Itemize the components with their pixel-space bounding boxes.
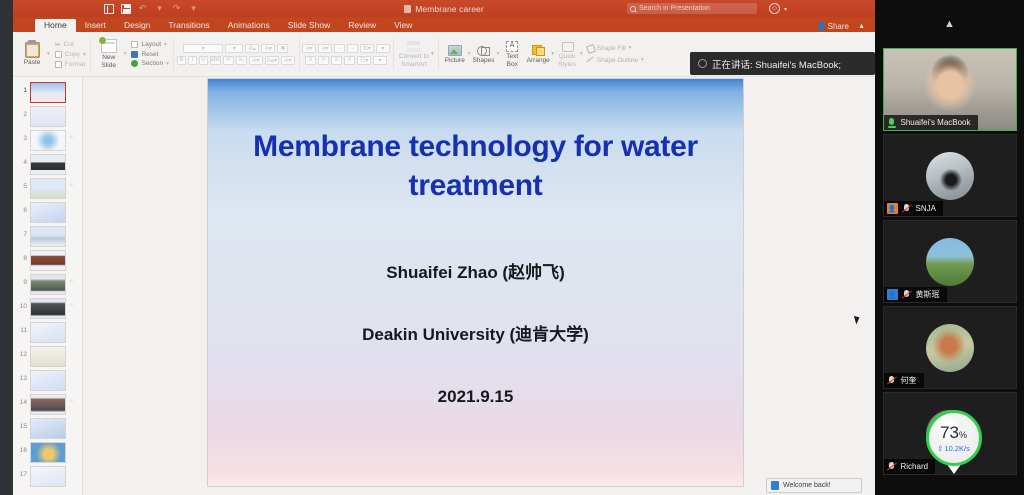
search-placeholder: Search in Presentation [639,5,710,12]
participant-badge-icon: 👤 [887,203,898,214]
clipboard-commands: ✂ Cut Copy ▾ Format [55,41,86,68]
search-input[interactable]: Search in Presentation [627,3,757,14]
slide-preview [30,250,66,271]
participant-tile-shuaifei-macbook[interactable]: Shuaifei's MacBook [883,48,1017,131]
clear-formatting-icon[interactable]: ✖ [277,44,288,53]
participant-name-tag: Richard [884,459,936,474]
slide-preview [30,418,66,439]
align-right-button[interactable]: ≡ [331,56,342,65]
slide-note-indicator [69,226,78,230]
notification-text: Welcome back! [783,482,831,489]
share-label: Share [828,22,849,31]
layout-label: Layout [141,41,161,48]
paragraph-group: ≡▾ ≡▾ ← → ⇅▾ ▾ ≡ ≡ ≡ ≡ ☷▾ ▾ [299,32,393,76]
microphone-on-icon [887,117,897,128]
justify-button[interactable]: ≡ [344,56,355,65]
slide-note-indicator: ☼ [69,274,78,284]
layout-icon [131,41,138,48]
tab-home[interactable]: Home [35,19,76,32]
slide-note-indicator [69,442,78,446]
participant-name-tag: Shuaifei's MacBook [884,115,978,130]
participant-avatar [926,238,974,286]
decrease-indent-button[interactable]: ← [334,44,345,53]
layout-dropdown-icon: ▾ [164,42,167,48]
slide-preview [30,226,66,247]
share-icon: 👤 [817,23,825,31]
shape-fill-icon [586,44,594,52]
speaking-tooltip-text: 正在讲话: Shuaifei's MacBook; [712,57,841,71]
participant-name: Richard [901,462,929,471]
text-box-icon [506,41,518,52]
slide-affiliation-text: Deakin University (迪肯大学) [241,325,711,345]
participant-tile-hekui[interactable]: 何奎 [883,306,1017,389]
slide-thumbnail-11[interactable]: 11 [13,320,82,344]
font-row-bottom: B I U abc x² x₂ A▾ Aa▾ A▾ [177,56,295,65]
slide-thumbnail-1[interactable]: 1 [13,80,82,104]
ribbon-tab-bar: Home Insert Design Transitions Animation… [13,17,875,32]
participant-name: 黄斯珉 [916,289,940,300]
chevron-up-icon: ▲ [944,18,955,30]
shape-outline-icon [586,56,594,64]
cut-icon: ✂ [55,41,61,49]
slides-group: New Slide ▾ Layout ▾ Reset [90,32,173,76]
slide-canvas-area: Membrane technology for water treatment … [83,77,875,495]
new-slide-button[interactable]: New Slide [94,39,124,69]
decrease-font-size-button[interactable]: A▾ [261,44,275,53]
reset-label: Reset [141,51,158,58]
slide-note-indicator [69,106,78,110]
increase-font-size-button[interactable]: A▴ [245,44,259,53]
shape-style-commands: Shape Fill ▾ Shape Outline ▾ [583,44,644,64]
slide-thumbnail-9[interactable]: 9 ☼ [13,272,82,296]
smartart-label-1: Convert to [399,53,429,60]
slide-author-text: Shuaifei Zhao (赵帅飞) [241,263,711,283]
paste-icon [25,42,40,58]
slide-thumbnail-2[interactable]: 2 [13,104,82,128]
slide-thumbnail-3[interactable]: 3 ☼ [13,128,82,152]
shape-outline-button[interactable]: Shape Outline ▾ [586,56,644,64]
share-button[interactable]: 👤 Share [817,22,849,31]
picture-button[interactable]: Picture [442,45,468,64]
font-color-button[interactable]: A▾ [281,56,295,65]
slide-number: 16 [18,442,27,455]
participant-name: SNJA [916,204,936,213]
new-slide-label-2: Slide [101,62,115,69]
numbering-button[interactable]: ≡▾ [318,44,332,53]
slide-number: 7 [18,226,27,239]
slide-preview [30,466,66,487]
slide-thumbnail-14[interactable]: 14 ☼ [13,392,82,416]
bullets-button[interactable]: ≡▾ [302,44,316,53]
slide-preview [30,442,66,463]
new-slide-label-1: New [102,54,115,61]
quick-styles-label-2: Styles [558,61,576,68]
text-box-label-1: Text [506,53,518,60]
slide-note-indicator [69,418,78,422]
underline-button[interactable]: U [199,56,208,65]
columns-button[interactable]: ☷▾ [357,56,371,65]
character-spacing-button[interactable]: A▾ [249,56,263,65]
strikethrough-button[interactable]: abc [210,56,221,65]
shape-fill-label: Shape Fill [597,45,626,52]
shape-fill-button[interactable]: Shape Fill ▾ [586,44,644,52]
slide-preview [30,322,66,343]
tab-animations[interactable]: Animations [219,19,279,32]
document-title-text: Membrane career [415,4,484,14]
slide-number: 10 [18,298,27,311]
slide-thumbnail-4[interactable]: 4 [13,152,82,176]
slide-number: 8 [18,250,27,263]
text-direction-button[interactable]: ▾ [376,44,390,53]
slide-number: 12 [18,346,27,359]
smartart-group: Convert to SmartArt ▾ [393,32,438,76]
paragraph-row-top: ≡▾ ≡▾ ← → ⇅▾ ▾ [302,44,390,53]
slide-title-text[interactable]: Membrane technology for water treatment [241,127,711,205]
microphone-muted-icon [902,289,912,300]
copy-label: Copy [65,51,80,58]
tab-review[interactable]: Review [339,19,385,32]
change-case-button[interactable]: Aa▾ [265,56,279,65]
participant-tile-huangsimin[interactable]: 👤 黄斯珉 [883,220,1017,303]
slide-preview [30,106,66,127]
presentation-file-icon [404,5,411,13]
slide-note-indicator [69,466,78,470]
slide-number: 4 [18,154,27,167]
align-center-button[interactable]: ≡ [318,56,329,65]
font-family-select[interactable]: ▾ [183,44,223,53]
zoom-video-panel: ▲ Shuaifei's MacBook 👤 SNJA [875,0,1024,495]
slide-preview [30,370,66,391]
drawing-group: Picture ▾ Shapes ▾ Text Box Arrange ▾ [438,32,648,76]
shape-outline-dropdown-icon: ▾ [641,57,644,63]
copy-button[interactable]: Copy ▾ [55,51,86,58]
scroll-up-button[interactable]: ▲ [875,0,1024,48]
slide-thumbnail-8[interactable]: 8 [13,248,82,272]
slide-note-indicator [69,250,78,254]
slide-number: 17 [18,466,27,479]
tab-transitions[interactable]: Transitions [159,19,218,32]
clipboard-group: Paste ▾ ✂ Cut Copy ▾ Format [13,32,90,76]
slide-thumbnail-10[interactable]: 10 ☼ [13,296,82,320]
slide-note-indicator [69,154,78,158]
slide-note-indicator: ☼ [69,394,78,404]
shapes-label: Shapes [472,57,494,64]
speed-percent: 73% [940,424,967,444]
slide-note-indicator: ☼ [69,178,78,188]
slide-number: 5 [18,178,27,191]
picture-label: Picture [445,57,465,64]
participant-name: Shuaifei's MacBook [901,118,971,127]
font-row-top: ▾ ▾ A▴ A▾ ✖ [183,44,288,53]
search-icon [630,6,636,12]
paste-label: Paste [24,59,41,66]
slide-thumbnail-17[interactable]: 17 [13,464,82,488]
line-spacing-button[interactable]: ⇅▾ [360,44,374,53]
tab-view[interactable]: View [385,19,421,32]
paste-button[interactable]: Paste [17,42,47,66]
slide-note-indicator [69,202,78,206]
section-label: Section [141,60,163,67]
participant-name-tag: 👤 SNJA [884,201,943,216]
slide-thumbnail-6[interactable]: 6 [13,200,82,224]
account-dropdown-icon[interactable]: ▾ [784,6,787,13]
participant-avatar [926,152,974,200]
slide-number: 14 [18,394,27,407]
section-icon [131,60,138,67]
paste-dropdown-icon[interactable]: ▾ [47,51,50,57]
screen: ↶ ▾ ↷ ▾ Membrane career Search in Presen… [0,0,1024,495]
editor-area: 1 2 3 ☼ 4 [13,77,875,495]
slide-date-text: 2021.9.15 [241,387,711,407]
new-slide-dropdown-icon[interactable]: ▾ [124,51,127,57]
slide-body[interactable]: Shuaifei Zhao (赵帅飞) Deakin University (迪… [241,263,711,407]
slide-preview [30,346,66,367]
slide-preview [30,178,66,199]
slide-number: 6 [18,202,27,215]
slide-thumbnail-5[interactable]: 5 ☼ [13,176,82,200]
slide-note-indicator: ☼ [69,298,78,308]
align-left-button[interactable]: ≡ [305,56,316,65]
superscript-button[interactable]: x² [223,56,234,65]
cut-button[interactable]: ✂ Cut [55,41,86,49]
slide-thumbnail-15[interactable]: 15 [13,416,82,440]
picture-icon [448,45,462,56]
smartart-icon [407,41,421,52]
smartart-label-2: SmartArt [401,61,427,68]
slide-number: 13 [18,370,27,383]
account-avatar-icon[interactable]: ☺ [769,3,780,14]
font-size-select[interactable]: ▾ [225,44,243,53]
slide-thumbnail-16[interactable]: 16 [13,440,82,464]
section-button[interactable]: Section ▾ [131,60,168,67]
tab-slide-show[interactable]: Slide Show [279,19,340,32]
quick-styles-button[interactable]: Quick Styles [554,41,580,68]
copy-dropdown-icon: ▾ [83,52,86,58]
paragraph-row-bottom: ≡ ≡ ≡ ≡ ☷▾ ▾ [305,56,387,65]
welcome-notification[interactable]: Welcome back! [766,478,862,493]
arrange-button[interactable]: Arrange [525,45,551,64]
quick-styles-label-1: Quick [559,53,576,60]
participant-name: 何奎 [901,375,917,386]
smartart-dropdown-icon[interactable]: ▾ [431,51,434,57]
slide-preview [30,154,66,175]
tab-insert[interactable]: Insert [76,19,115,32]
slide-preview [30,274,66,295]
italic-button[interactable]: I [188,56,197,65]
speaking-tooltip: 正在讲话: Shuaifei's MacBook; [690,52,875,75]
slide-note-indicator: ☼ [69,130,78,140]
quick-styles-icon [561,41,574,52]
section-dropdown-icon: ▾ [166,61,169,67]
slide-thumbnail-panel[interactable]: 1 2 3 ☼ 4 [13,77,83,495]
format-painter-icon [55,61,62,68]
reset-button[interactable]: Reset [131,51,168,58]
network-speed-indicator: 73% ⇧10.2K/s [926,410,982,466]
slide-preview [30,394,66,415]
slide-note-indicator [69,346,78,350]
title-bar: ↶ ▾ ↷ ▾ Membrane career Search in Presen… [13,0,875,17]
arrange-label: Arrange [527,57,550,64]
layout-button[interactable]: Layout ▾ [131,41,168,48]
participant-name-tag: 何奎 [884,373,924,388]
speaker-icon [698,59,707,68]
microphone-muted-icon [887,461,897,472]
text-box-button[interactable]: Text Box [499,41,525,68]
slide-commands: Layout ▾ Reset Section ▾ [131,41,168,67]
participant-badge-icon: 👤 [887,289,898,300]
participant-name-tag: 👤 黄斯珉 [884,287,947,302]
shapes-button[interactable]: Shapes [470,45,496,64]
microphone-muted-icon [902,203,912,214]
microphone-muted-icon [887,375,897,386]
font-group: ▾ ▾ A▴ A▾ ✖ B I U abc x² x₂ A▾ Aa▾ A▾ [173,32,299,76]
copy-icon [55,51,62,58]
cut-label: Cut [64,41,74,48]
align-text-button[interactable]: ▾ [373,56,387,65]
slide-note-indicator [69,322,78,326]
slide-number: 1 [18,82,27,95]
tab-design[interactable]: Design [115,19,159,32]
slide-number: 11 [18,322,27,335]
increase-indent-button[interactable]: → [347,44,358,53]
arrange-icon [532,45,545,56]
speed-rate: ⇧10.2K/s [937,444,970,453]
text-box-label-2: Box [507,61,518,68]
shape-outline-label: Shape Outline [597,57,638,64]
slide-preview [30,298,66,319]
reset-icon [131,51,138,58]
participant-avatar [926,324,974,372]
slide-thumbnail-13[interactable]: 13 [13,368,82,392]
slide-number: 2 [18,106,27,119]
shape-fill-dropdown-icon: ▾ [629,45,632,51]
ribbon-collapse-icon[interactable]: ▲ [858,23,865,30]
slide-preview [30,82,66,103]
format-painter-button[interactable]: Format [55,61,86,68]
slide-thumbnail-12[interactable]: 12 [13,344,82,368]
notification-app-icon [771,481,779,490]
current-slide[interactable]: Membrane technology for water treatment … [208,79,743,486]
mouse-cursor [854,314,861,324]
format-label: Format [65,61,86,68]
slide-note-indicator [69,82,78,86]
bold-button[interactable]: B [177,56,186,65]
slide-note-indicator [69,370,78,374]
shapes-icon [477,45,490,56]
slide-number: 9 [18,274,27,287]
slide-preview [30,130,66,151]
slide-number: 3 [18,130,27,143]
slide-preview [30,202,66,223]
subscript-button[interactable]: x₂ [236,56,247,65]
convert-to-smartart-button[interactable]: Convert to SmartArt [397,41,431,68]
new-slide-icon [101,39,117,53]
slide-number: 15 [18,418,27,431]
participant-tile-richard[interactable]: Richard 73% ⇧10.2K/s [883,392,1017,475]
slide-thumbnail-7[interactable]: 7 [13,224,82,248]
participant-tile-snja[interactable]: 👤 SNJA [883,134,1017,217]
